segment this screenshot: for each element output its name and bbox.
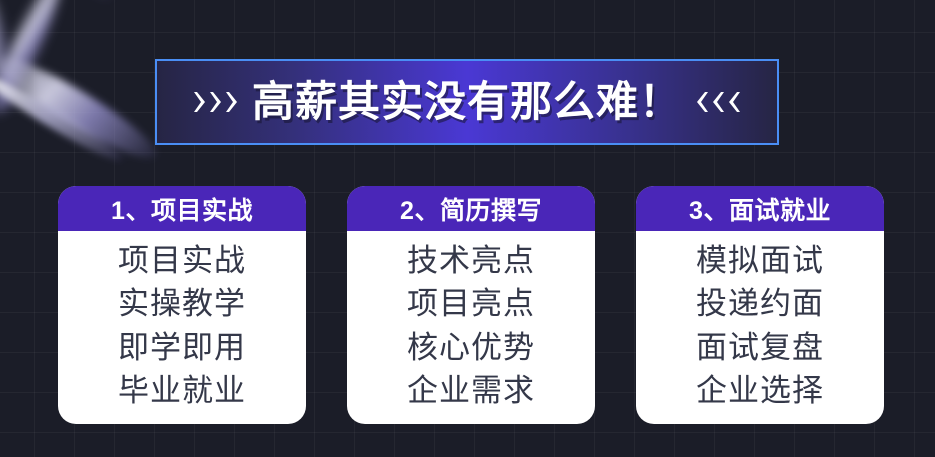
card-header: 1、项目实战: [58, 186, 306, 231]
card-item: 实操教学: [118, 284, 246, 323]
card-item: 企业选择: [696, 371, 824, 410]
chevron-left-icon: [728, 91, 741, 113]
card-item: 面试复盘: [696, 328, 824, 367]
card-item: 项目亮点: [407, 284, 535, 323]
card-item: 核心优势: [407, 328, 535, 367]
streak-shape: [0, 0, 69, 119]
card-header: 2、简历撰写: [347, 186, 595, 231]
chevron-right-icon: [193, 91, 206, 113]
card-item: 模拟面试: [696, 241, 824, 280]
left-chevron-group: [193, 91, 238, 113]
cards-row: 1、项目实战 项目实战 实操教学 即学即用 毕业就业 2、简历撰写 技术亮点 项…: [58, 186, 884, 424]
chevron-left-icon: [696, 91, 709, 113]
streak-shape: [0, 0, 18, 111]
card-project-practice[interactable]: 1、项目实战 项目实战 实操教学 即学即用 毕业就业: [58, 186, 306, 424]
card-interview-employment[interactable]: 3、面试就业 模拟面试 投递约面 面试复盘 企业选择: [636, 186, 884, 424]
right-chevron-group: [696, 91, 741, 113]
chevron-left-icon: [712, 91, 725, 113]
card-header: 3、面试就业: [636, 186, 884, 231]
poster-stage: 高薪其实没有那么难！ 1、项目实战 项目实战 实操教学 即学即用 毕业就业: [0, 0, 935, 457]
streak-shape: [27, 66, 57, 107]
card-body: 模拟面试 投递约面 面试复盘 企业选择: [636, 231, 884, 424]
streak-shape: [0, 43, 165, 170]
card-item: 毕业就业: [118, 371, 246, 410]
banner-title: 高薪其实没有那么难！: [252, 81, 682, 123]
card-item: 投递约面: [696, 284, 824, 323]
card-item: 企业需求: [407, 371, 535, 410]
chevron-right-icon: [209, 91, 222, 113]
card-item: 技术亮点: [407, 241, 535, 280]
card-item: 即学即用: [118, 328, 246, 367]
card-resume-writing[interactable]: 2、简历撰写 技术亮点 项目亮点 核心优势 企业需求: [347, 186, 595, 424]
card-body: 技术亮点 项目亮点 核心优势 企业需求: [347, 231, 595, 424]
streak-shape: [0, 70, 127, 168]
chevron-right-icon: [225, 91, 238, 113]
title-banner: 高薪其实没有那么难！: [155, 59, 779, 145]
card-body: 项目实战 实操教学 即学即用 毕业就业: [58, 231, 306, 424]
streak-shape: [41, 0, 117, 5]
card-item: 项目实战: [118, 241, 246, 280]
